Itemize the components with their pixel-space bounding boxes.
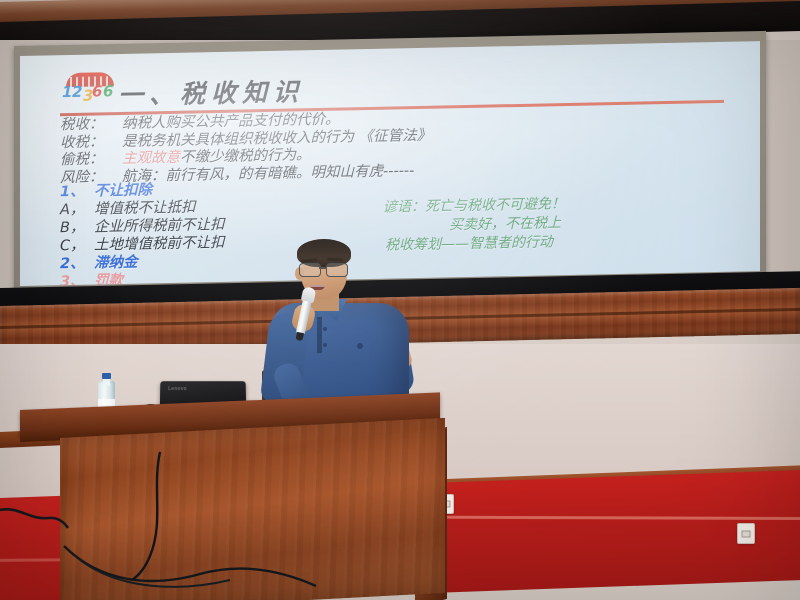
carpet-stripe: [430, 516, 800, 520]
shirt-button: [323, 327, 327, 331]
definition-term: 收税：: [60, 133, 122, 152]
logo-digit-1: 1: [62, 83, 72, 101]
eyeglasses: [299, 263, 349, 276]
list-label: 企业所得税前不让扣: [94, 217, 225, 236]
podium-cable: [130, 452, 190, 582]
laptop-brand-label: Lenovo: [168, 386, 187, 392]
definition-highlight: 主观故意: [122, 150, 180, 167]
tax-hotline-logo-icon: 1 2 3 6 6: [60, 72, 122, 103]
logo-digit-2: 2: [72, 83, 82, 101]
logo-digit-5: 6: [103, 82, 113, 100]
list-label: 土地增值税前不让扣: [94, 235, 225, 254]
list-index: B，: [60, 219, 94, 238]
slide-quotes: 谚语：死亡与税收不可避免！ 买卖好，不在税上 税收筹划——智慧者的行动: [383, 191, 753, 255]
list-index: 1、: [60, 183, 94, 202]
list-label: 滞纳金: [94, 255, 138, 272]
lecture-hall-photo: 1 2 3 6 6 一、税收知识 税收：纳税人购买公共产品支付的代价。 收税：是…: [0, 0, 800, 600]
list-label: 增值税不让抵扣: [94, 199, 196, 217]
list-label: 不让扣除: [94, 182, 152, 199]
shirt-logo: [357, 343, 363, 349]
definition-term: 税收：: [60, 116, 122, 135]
logo-digit-4: 6: [92, 82, 102, 100]
definition-text: 不缴少缴税的行为。: [180, 147, 311, 166]
shirt-button: [323, 343, 327, 347]
list-index: 3、: [60, 273, 94, 286]
wall-outlet-right-icon: [737, 523, 755, 544]
definition-term: 偷税：: [60, 151, 122, 170]
list-index: 2、: [60, 255, 94, 274]
slide-title: 一、税收知识: [118, 72, 304, 112]
definition-block: 税收：纳税人购买公共产品支付的代价。 收税：是税务机关具体组织税收收入的行为 《…: [60, 103, 750, 187]
list-index: A，: [60, 201, 94, 220]
shirt-placket: [317, 317, 322, 353]
floor-cable-left: [0, 500, 70, 540]
floor-cable: [60, 540, 320, 596]
list-index: C，: [60, 237, 94, 256]
